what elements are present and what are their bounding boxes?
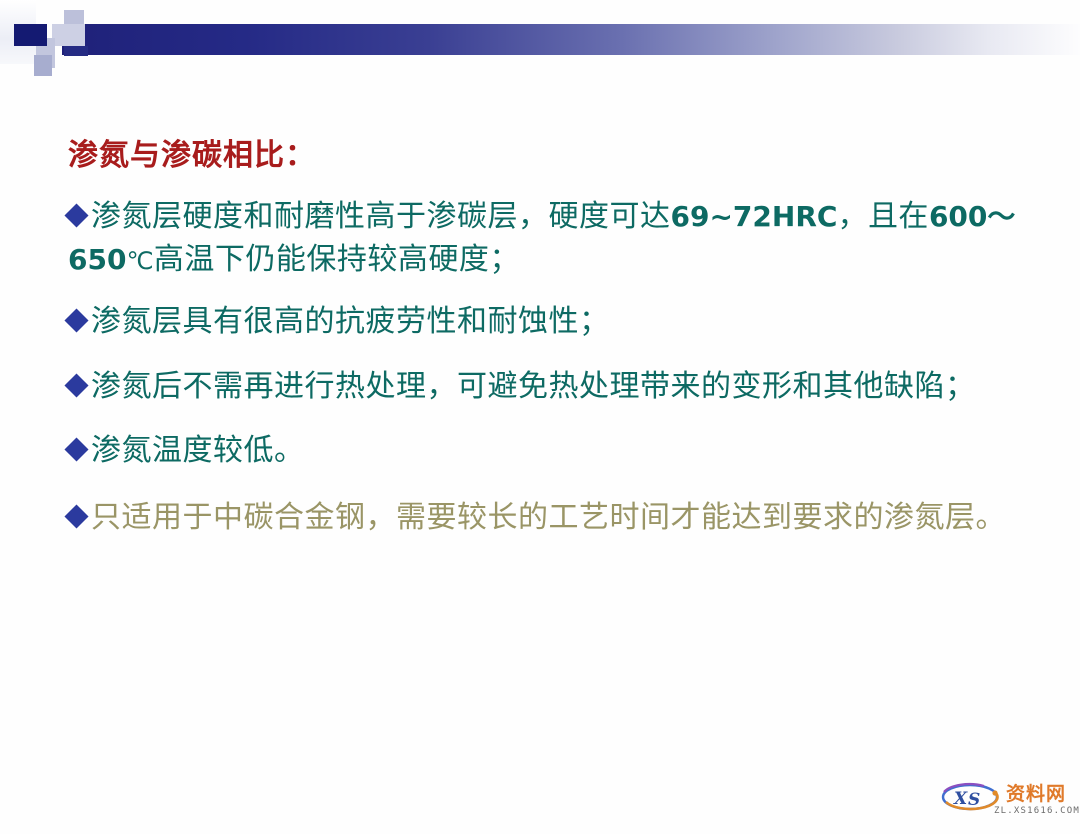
bullet-no-heat-treat: 渗氮后不需再进行热处理，可避免热处理带来的变形和其他缺陷； [68, 366, 1028, 409]
watermark-url: ZL.XS1616.COM [994, 806, 1080, 816]
svg-text:S: S [968, 790, 980, 810]
svg-text:X: X [953, 789, 968, 809]
watermark-site-name: 资料网 [1006, 779, 1066, 806]
bullet-hardness: 渗氮层硬度和耐磨性高于渗碳层，硬度可达69~72HRC，且在600～650℃高温… [68, 196, 1028, 281]
bullet-hardness-seg-4: 且在 [868, 199, 929, 234]
bullet-hardness-seg-1: 渗氮层硬度和耐磨性高于渗碳层，硬度可达 [91, 199, 671, 234]
watermark: X S 资料网 ZL.XS1616.COM [934, 776, 1072, 826]
header-square-accent [14, 24, 47, 46]
bullet-limitation-line-1: 只适用于中碳合金钢，需要较长的工艺时间才能达到要求 [91, 500, 854, 535]
diamond-bullet-icon [64, 203, 88, 227]
diamond-bullet-icon [64, 309, 88, 333]
bullet-fatigue-text: 渗氮层具有很高的抗疲劳性和耐蚀性； [91, 304, 610, 339]
header-gradient-bar [62, 24, 1080, 55]
diamond-bullet-icon [64, 438, 88, 462]
bullet-low-temp-text: 渗氮温度较低。 [91, 433, 305, 468]
bullet-hardness-hrc-value: 69~72HRC [671, 200, 838, 233]
bullet-hardness-seg-3: ， [837, 199, 868, 234]
header-square-pale-mid [52, 24, 85, 46]
header-square-low [34, 55, 52, 76]
header-decoration [0, 0, 1080, 95]
bullet-low-temp: 渗氮温度较低。 [68, 430, 1028, 473]
bullet-limitation: 只适用于中碳合金钢，需要较长的工艺时间才能达到要求的渗氮层。 [68, 497, 1028, 540]
diamond-bullet-icon [64, 373, 88, 397]
bullet-no-heat-treat-line-2: 他缺陷； [854, 369, 976, 404]
slide-content: 渗氮与渗碳相比： 渗氮层硬度和耐磨性高于渗碳层，硬度可达69~72HRC，且在6… [68, 138, 1028, 554]
bullet-limitation-line-2: 的渗氮层。 [854, 500, 1007, 535]
celsius-unit: ℃ [126, 247, 153, 275]
bullet-no-heat-treat-line-1: 渗氮后不需再进行热处理，可避免热处理带来的变形和其 [91, 369, 854, 404]
header-square-darkblue [64, 46, 88, 56]
bullet-hardness-seg-6: 高温下仍能保持较高硬度； [154, 242, 520, 277]
diamond-bullet-icon [64, 504, 88, 528]
slide-canvas: 渗氮与渗碳相比： 渗氮层硬度和耐磨性高于渗碳层，硬度可达69~72HRC，且在6… [0, 0, 1080, 834]
slide-title: 渗氮与渗碳相比： [68, 138, 1028, 174]
bullet-fatigue: 渗氮层具有很高的抗疲劳性和耐蚀性； [68, 301, 1028, 344]
